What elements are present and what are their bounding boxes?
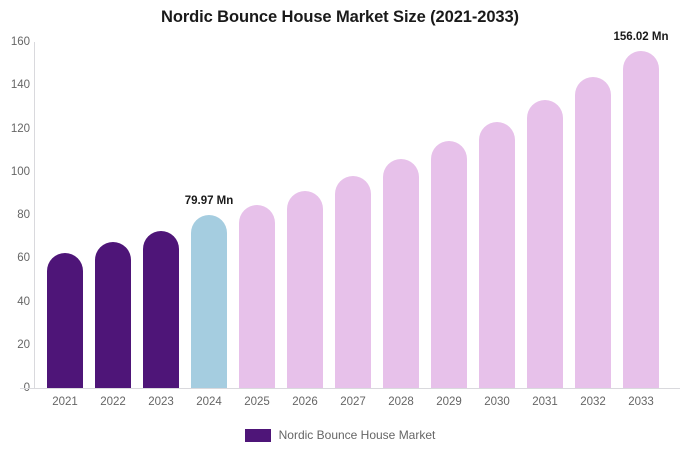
y-axis: 020406080100120140160 [0,0,30,450]
y-axis-tick: 120 [0,123,30,135]
y-axis-line [34,42,35,388]
chart-title: Nordic Bounce House Market Size (2021-20… [0,8,680,27]
bar-2024[interactable] [191,215,227,388]
chart-legend: Nordic Bounce House Market [0,428,680,442]
x-axis-tick-2024: 2024 [185,396,233,408]
bar-2028[interactable] [383,159,419,388]
x-axis-tick-2027: 2027 [329,396,377,408]
bar-2029[interactable] [431,141,467,388]
y-axis-tick: 20 [0,339,30,351]
y-axis-tick: 40 [0,296,30,308]
bar-2031[interactable] [527,100,563,388]
bar-2023[interactable] [143,231,179,388]
x-axis-tick-2026: 2026 [281,396,329,408]
x-axis-tick-2030: 2030 [473,396,521,408]
bar-2026[interactable] [287,191,323,388]
legend-swatch-nordic-bounce-house-market [245,429,271,442]
x-axis-tick-2032: 2032 [569,396,617,408]
x-axis-tick-2031: 2031 [521,396,569,408]
y-axis-tick: 80 [0,209,30,221]
x-axis-tick-2028: 2028 [377,396,425,408]
x-axis-line [20,388,680,389]
x-axis-tick-2023: 2023 [137,396,185,408]
data-label-2033: 156.02 Mn [614,31,669,43]
x-axis-tick-2025: 2025 [233,396,281,408]
legend-label: Nordic Bounce House Market [279,428,436,442]
bar-2025[interactable] [239,205,275,388]
bar-2032[interactable] [575,77,611,388]
bar-chart: Nordic Bounce House Market Size (2021-20… [0,0,680,450]
y-axis-tick: 60 [0,252,30,264]
y-axis-tick: 140 [0,79,30,91]
x-axis-tick-2029: 2029 [425,396,473,408]
bar-2027[interactable] [335,176,371,388]
bar-2033[interactable] [623,51,659,388]
x-axis-tick-2021: 2021 [41,396,89,408]
x-axis-tick-2033: 2033 [617,396,665,408]
bar-2030[interactable] [479,122,515,388]
x-axis-tick-2022: 2022 [89,396,137,408]
y-axis-tick: 160 [0,36,30,48]
bar-2021[interactable] [47,253,83,388]
bar-2022[interactable] [95,242,131,388]
y-axis-tick: 100 [0,166,30,178]
data-label-2024: 79.97 Mn [185,195,234,207]
